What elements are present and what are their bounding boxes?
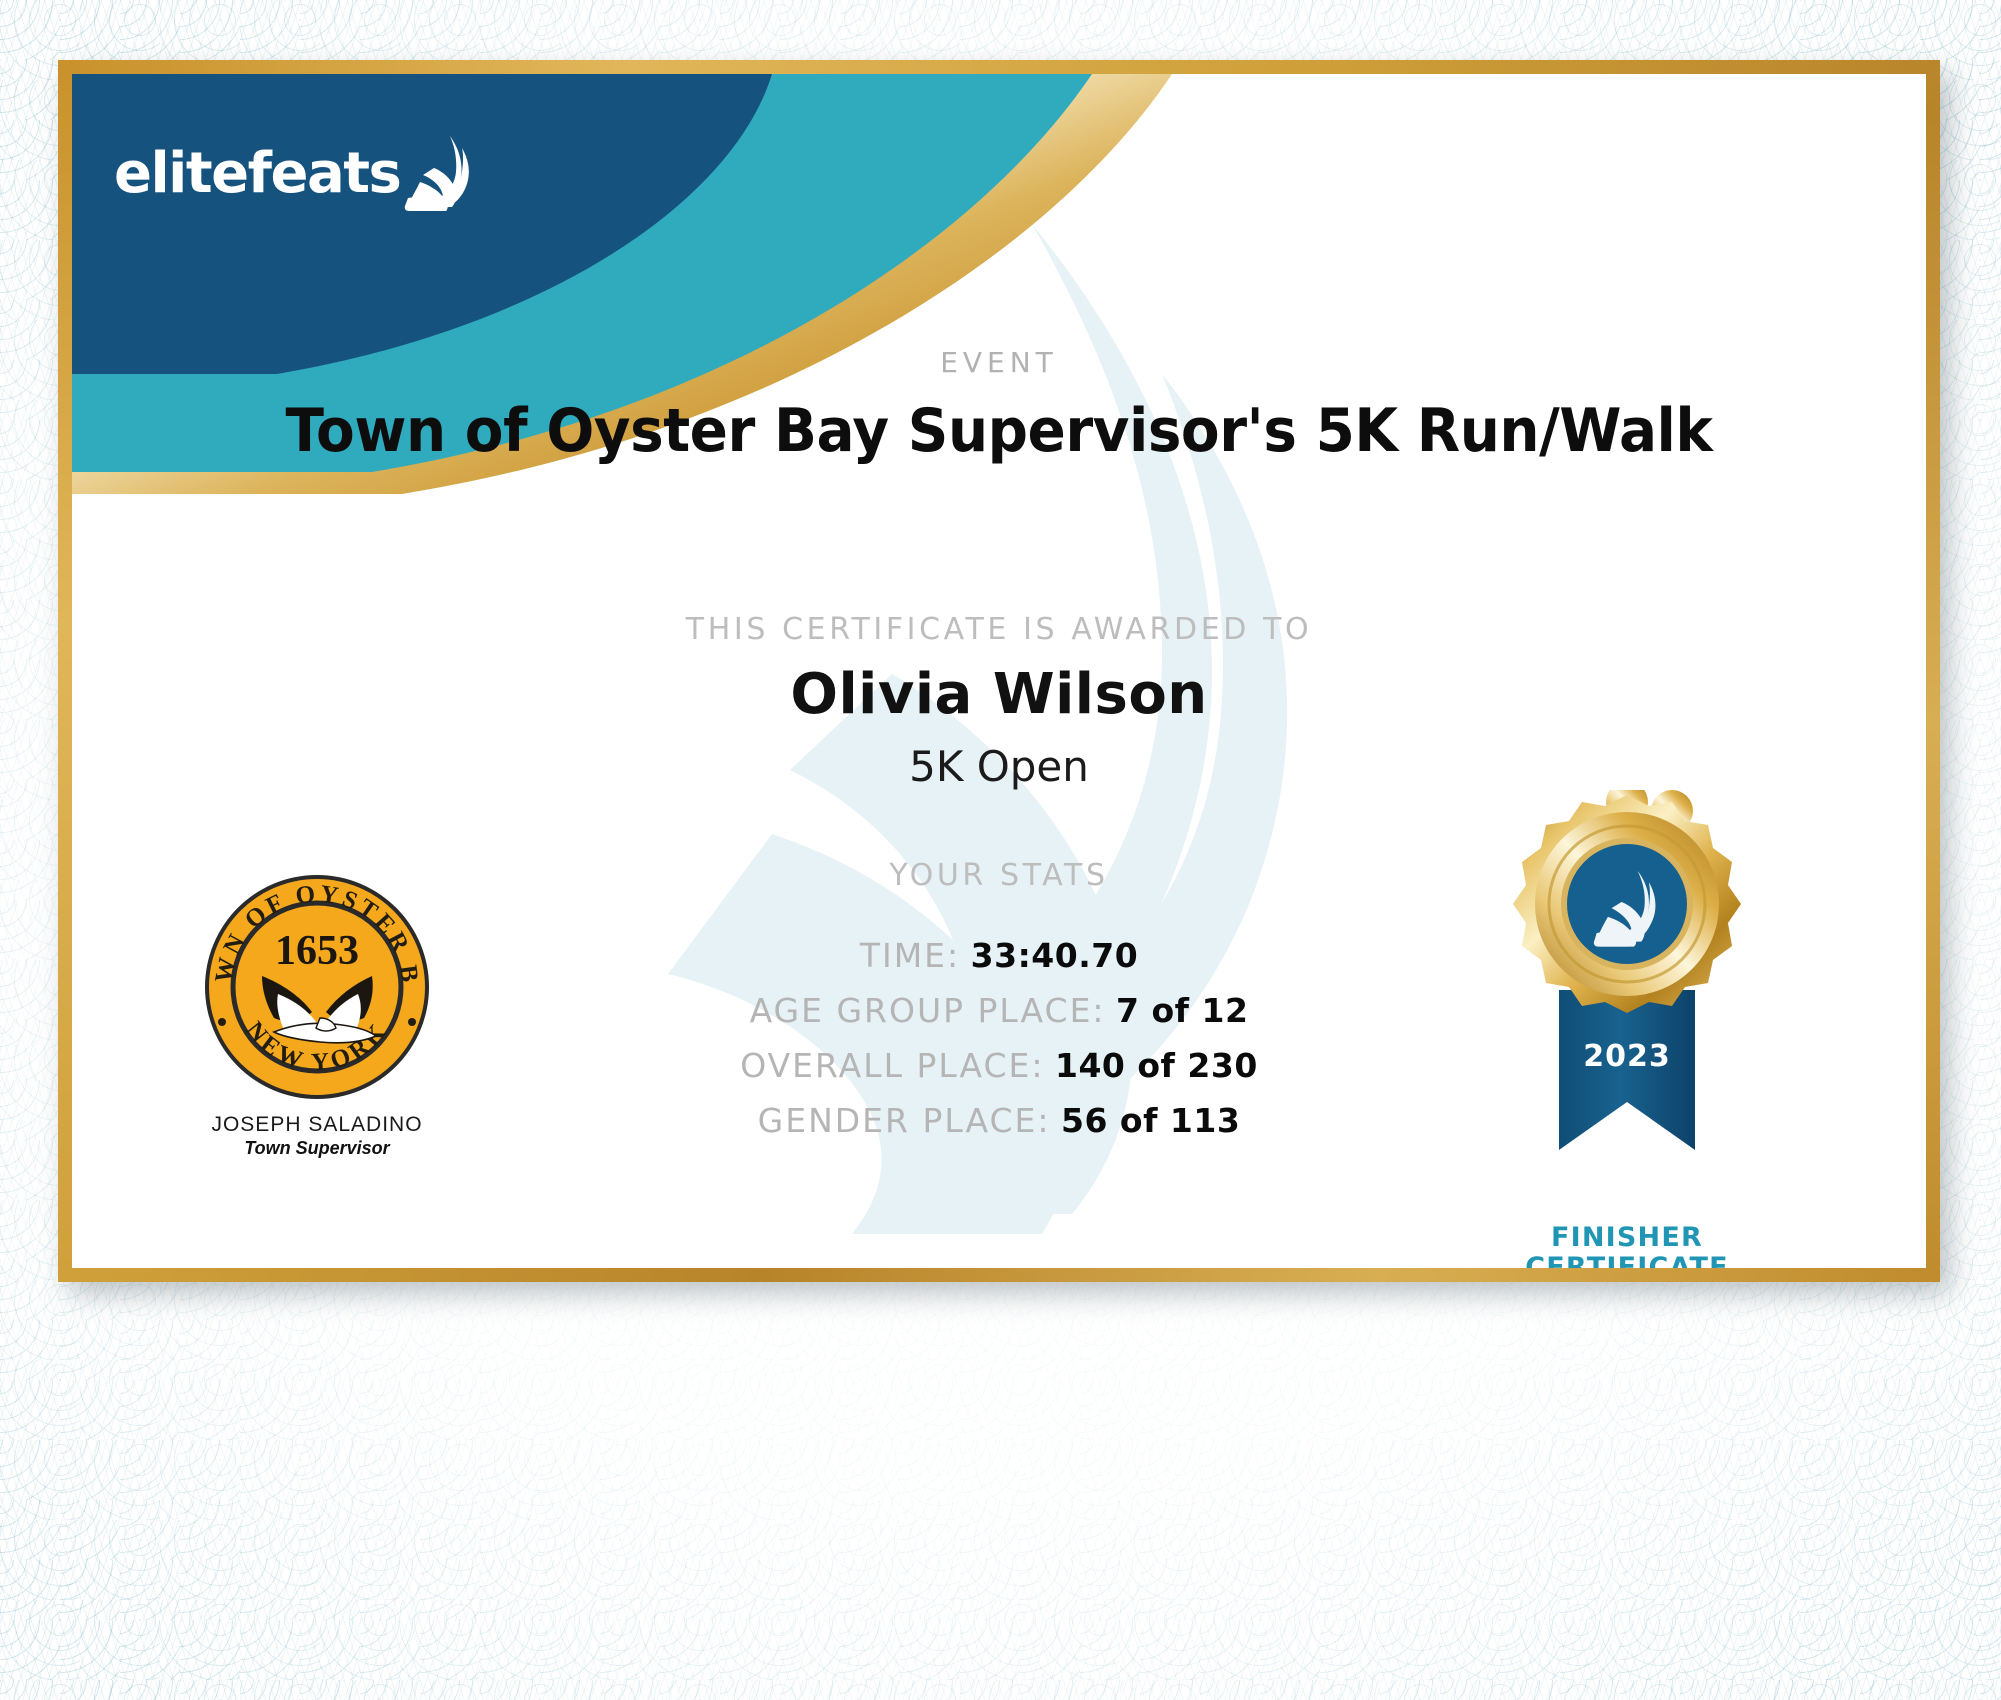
stat-value: 140 of 230 xyxy=(1055,1046,1258,1085)
seal-year: 1653 xyxy=(275,928,359,974)
supervisor-name: JOSEPH SALADINO xyxy=(182,1113,452,1137)
finisher-medal-block: 2023 xyxy=(1472,790,1782,1268)
awarded-to-label: THIS CERTIFICATE IS AWARDED TO xyxy=(72,612,1926,647)
certificate-page: elitefeats EVENT Town of Oyster Bay Supe… xyxy=(0,0,2001,1700)
stat-row: OVERALL PLACE: 140 of 230 xyxy=(479,1046,1519,1085)
medal-caption: FINISHER CERTIFICATE xyxy=(1472,1223,1782,1268)
stat-value: 7 of 12 xyxy=(1116,991,1248,1030)
medal-caption-line1: FINISHER xyxy=(1472,1223,1782,1253)
stat-key: OVERALL PLACE: xyxy=(740,1046,1044,1085)
certificate-gold-frame: elitefeats EVENT Town of Oyster Bay Supe… xyxy=(58,60,1940,1282)
medal-caption-line2: CERTIFICATE xyxy=(1472,1253,1782,1268)
stat-key: TIME: xyxy=(860,936,960,975)
town-of-oyster-bay-seal: TOWN OF OYSTER BAY NEW YORK 1653 xyxy=(202,872,432,1102)
stat-value: 56 of 113 xyxy=(1061,1101,1240,1140)
stat-row: AGE GROUP PLACE: 7 of 12 xyxy=(479,991,1519,1030)
medal-year: 2023 xyxy=(1583,1039,1671,1074)
finisher-medal-icon: 2023 xyxy=(1497,790,1757,1210)
stat-value: 33:40.70 xyxy=(971,936,1139,975)
event-title: Town of Oyster Bay Supervisor's 5K Run/W… xyxy=(128,396,1871,466)
stat-row: TIME: 33:40.70 xyxy=(479,936,1519,975)
recipient-division: 5K Open xyxy=(72,742,1926,791)
town-seal-block: TOWN OF OYSTER BAY NEW YORK 1653 xyxy=(182,872,452,1159)
stat-key: AGE GROUP PLACE: xyxy=(750,991,1106,1030)
stat-key: GENDER PLACE: xyxy=(758,1101,1051,1140)
event-label: EVENT xyxy=(72,346,1926,379)
recipient-name: Olivia Wilson xyxy=(72,662,1926,727)
certificate-content: EVENT Town of Oyster Bay Supervisor's 5K… xyxy=(72,74,1926,1268)
stat-row: GENDER PLACE: 56 of 113 xyxy=(479,1101,1519,1140)
certificate-body: elitefeats EVENT Town of Oyster Bay Supe… xyxy=(72,74,1926,1268)
supervisor-title: Town Supervisor xyxy=(182,1138,452,1159)
